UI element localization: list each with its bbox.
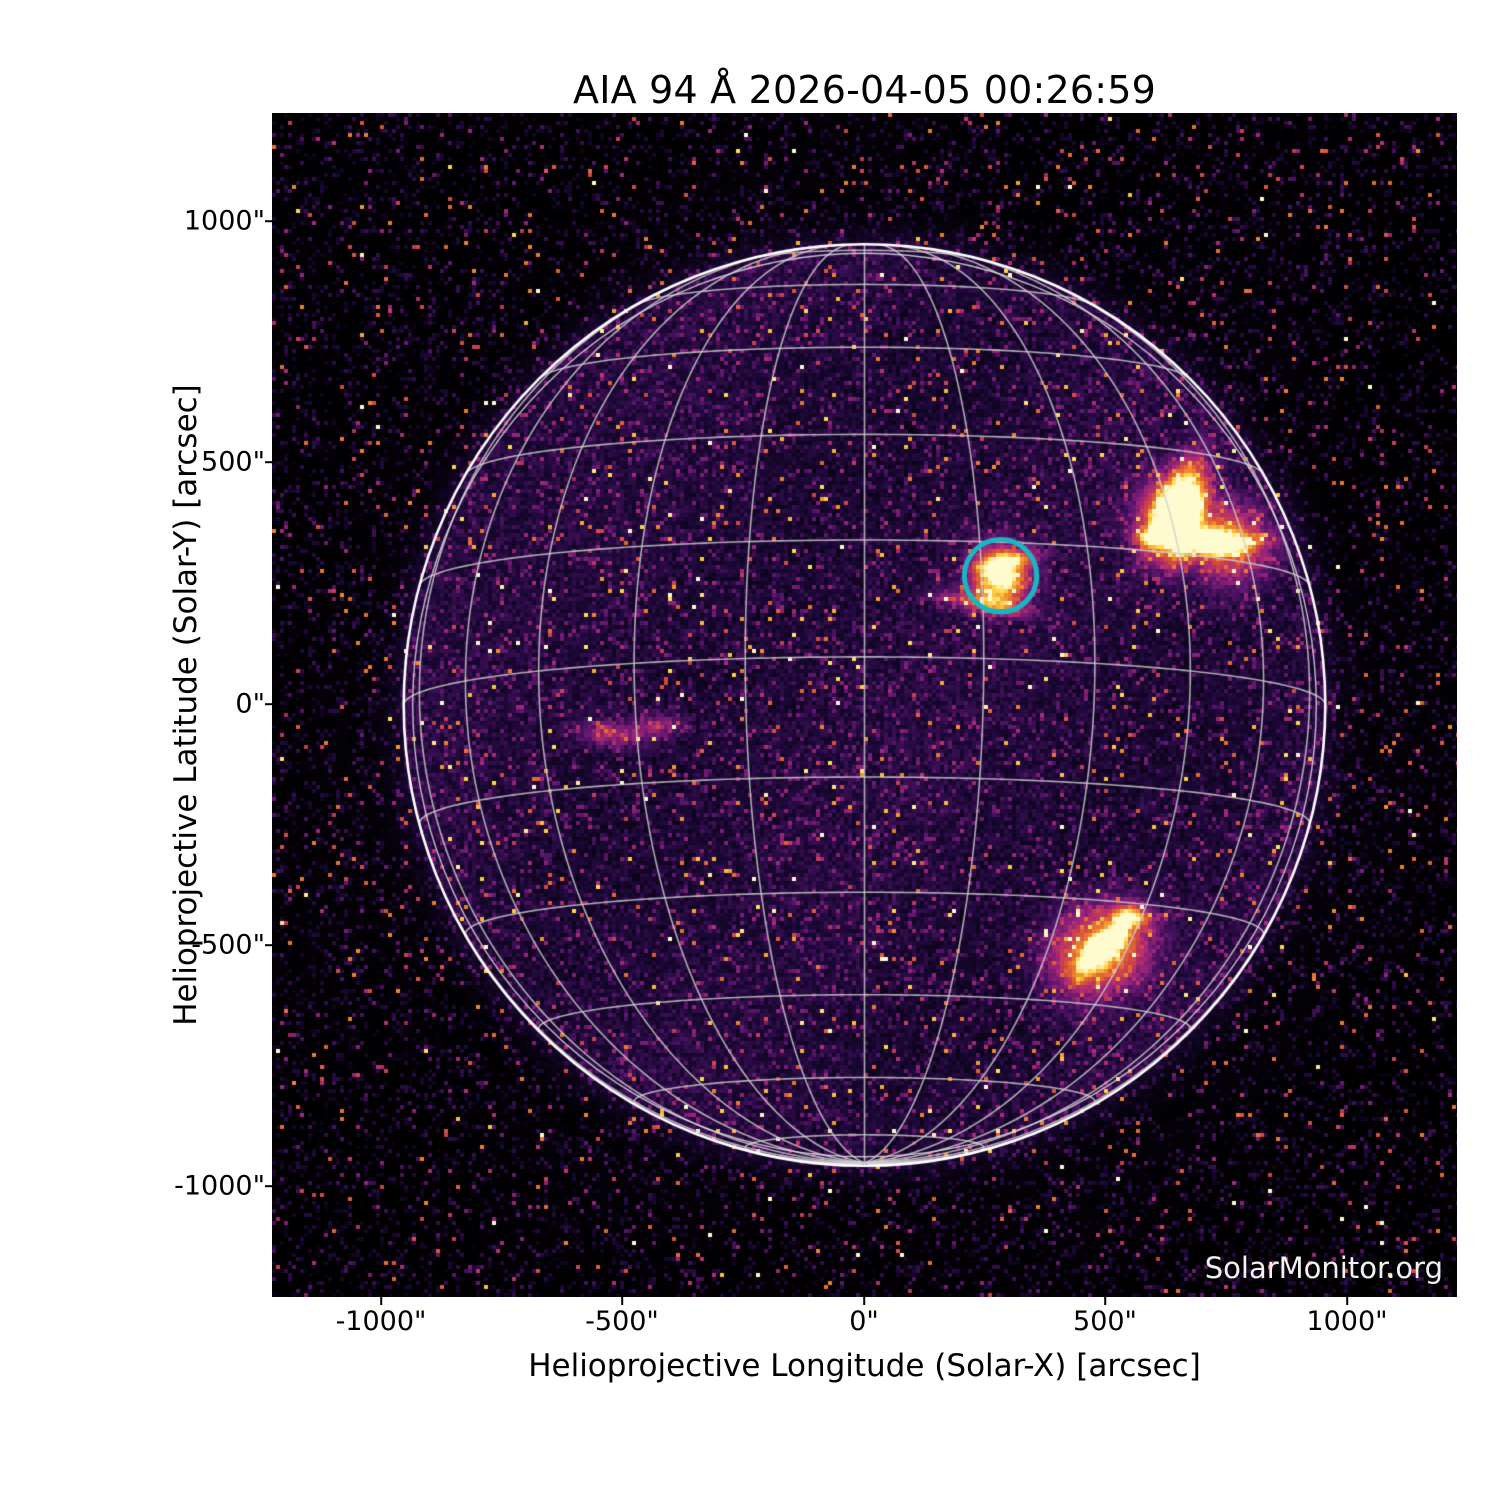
page-title: AIA 94 Å 2026-04-05 00:26:59 [272,68,1457,112]
xtick-label: 1000" [1306,1306,1387,1337]
xtick-label: -500" [585,1306,659,1337]
xtick-mark [1346,1297,1348,1305]
xtick-label: 0" [849,1306,879,1337]
xtick-mark [380,1297,382,1305]
x-axis-label: Helioprojective Longitude (Solar-X) [arc… [272,1348,1457,1384]
ytick-label: 500" [201,447,265,478]
ytick-mark [265,220,273,222]
ytick-mark [265,944,273,946]
xtick-mark [1104,1297,1106,1305]
ytick-mark [265,1185,273,1187]
ytick-label: 0" [235,689,265,720]
xtick-mark [863,1297,865,1305]
solarmonitor-watermark: SolarMonitor.org [1205,1251,1443,1285]
ytick-mark [265,461,273,463]
ytick-mark [265,703,273,705]
y-axis-label: Helioprojective Latitude (Solar-Y) [arcs… [168,113,204,1297]
xtick-label: 500" [1073,1306,1137,1337]
xtick-mark [621,1297,623,1305]
solar-image-plot-area[interactable]: SolarMonitor.org [272,113,1457,1297]
solar-image-figure: AIA 94 Å 2026-04-05 00:26:59 SolarMonito… [0,0,1500,1500]
solar-disk-image [272,113,1457,1297]
xtick-label: -1000" [336,1306,427,1337]
